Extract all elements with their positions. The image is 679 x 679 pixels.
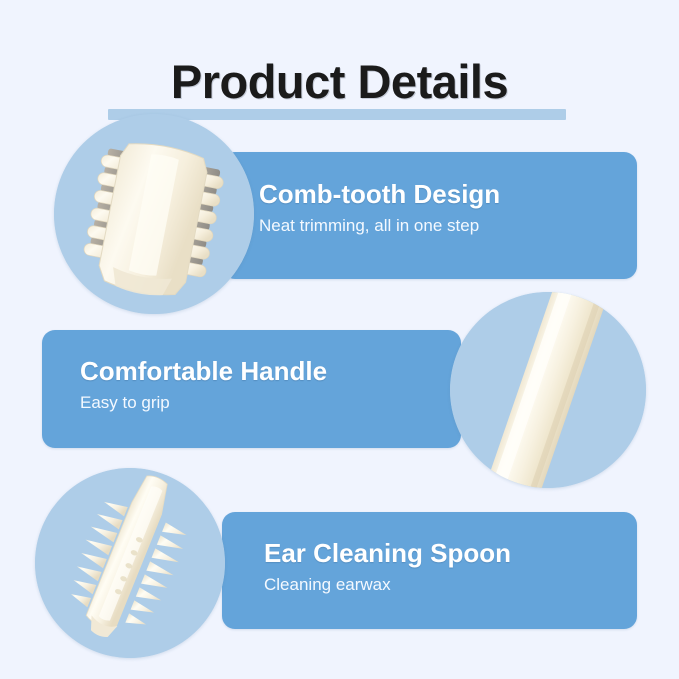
feature-subtitle: Easy to grip [80,391,327,415]
feature-title: Comb-tooth Design [259,178,500,210]
ear-cleaning-spoon-photo [35,468,225,658]
feature-text-comfortable-handle: Comfortable Handle Easy to grip [80,355,327,415]
feature-text-ear-cleaning-spoon: Ear Cleaning Spoon Cleaning earwax [264,537,511,597]
product-details-infographic: Product Details [0,0,679,679]
handle-stick-photo [450,292,646,488]
feature-text-comb-tooth-design: Comb-tooth Design Neat trimming, all in … [259,178,500,238]
feature-subtitle: Cleaning earwax [264,573,511,597]
header: Product Details [0,28,679,98]
feature-subtitle: Neat trimming, all in one step [259,214,500,238]
comb-tooth-head-photo [54,114,254,314]
feature-title: Ear Cleaning Spoon [264,537,511,569]
page-title: Product Details [0,54,679,110]
feature-title: Comfortable Handle [80,355,327,387]
